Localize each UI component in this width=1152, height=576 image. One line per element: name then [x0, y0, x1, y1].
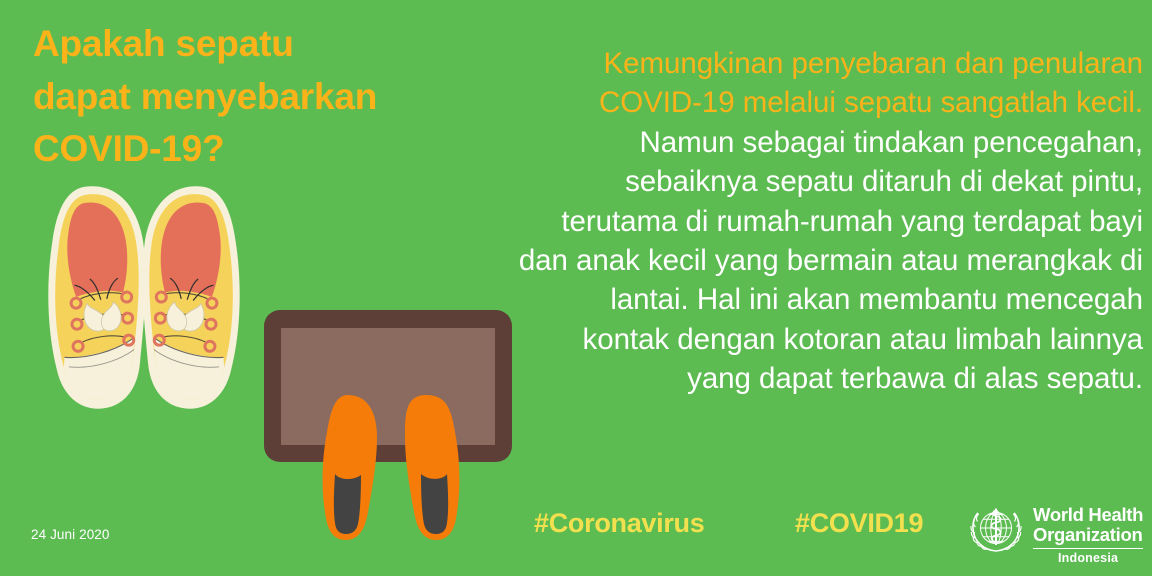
hashtag-coronavirus[interactable]: #Coronavirus [534, 508, 704, 539]
who-wordmark-line-2: Organization [1033, 525, 1143, 545]
yellow-sneakers-illustration [18, 170, 268, 425]
who-country-label: Indonesia [1033, 551, 1143, 565]
orange-shoe-right [405, 395, 459, 540]
body-lead-text: Kemungkinan penyebaran dan penularan COV… [518, 44, 1143, 123]
publication-date: 24 Juni 2020 [31, 527, 110, 542]
hashtag-covid19[interactable]: #COVID19 [795, 508, 923, 539]
who-divider [1033, 548, 1143, 550]
doormat-with-feet-illustration [250, 300, 526, 576]
infographic-poster: Apakah sepatu dapat menyebarkan COVID-19… [0, 0, 1152, 576]
body-copy: Kemungkinan penyebaran dan penularan COV… [518, 44, 1143, 398]
page-title: Apakah sepatu dapat menyebarkan COVID-19… [33, 18, 503, 176]
orange-shoe-left [323, 395, 377, 540]
who-emblem-icon [968, 503, 1024, 564]
who-wordmark-line-1: World Health [1033, 505, 1143, 525]
body-rest-text: Namun sebagai tindakan pencegahan, sebai… [518, 123, 1143, 399]
who-wordmark: World Health Organization Indonesia [1033, 503, 1143, 565]
who-logo: World Health Organization Indonesia [968, 503, 1143, 565]
